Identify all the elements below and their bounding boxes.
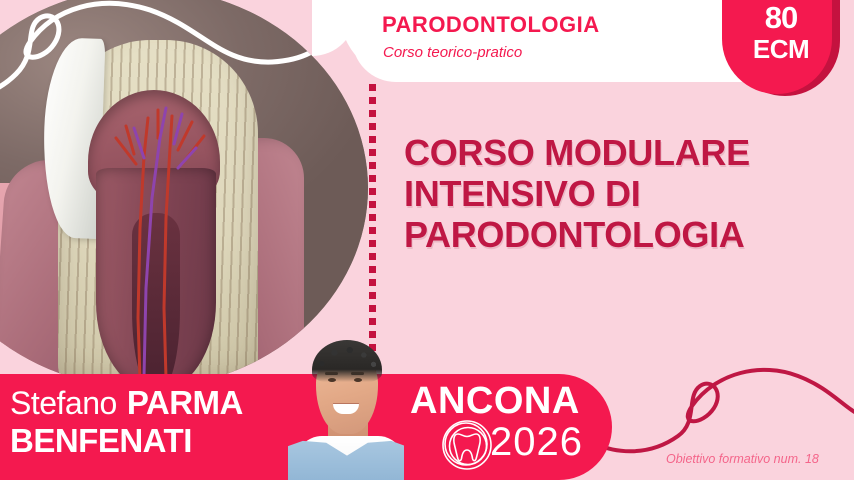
main-headline: CORSO MODULARE INTENSIVO DI PARODONTOLOG…: [404, 132, 844, 255]
portrait-eyebrow-right: [351, 372, 364, 375]
tooth-cross-section-photo: [0, 0, 368, 388]
portrait-eye-left: [328, 378, 336, 382]
speaker-portrait: [288, 332, 404, 480]
portrait-eye-right: [354, 378, 362, 382]
speaker-name-line-1: StefanoPARMA: [10, 386, 243, 419]
speaker-name-band: StefanoPARMA BENFENATI: [0, 374, 320, 480]
speaker-surname-part-2: BENFENATI: [10, 424, 192, 457]
headline-line-3: PARODONTOLOGIA: [404, 214, 844, 255]
header-pill: PARODONTOLOGIA Corso teorico-pratico: [352, 0, 772, 82]
course-subject-title: PARODONTOLOGIA: [382, 12, 600, 38]
portrait-eyebrow-left: [325, 372, 338, 375]
tooth-emblem-icon: [438, 418, 496, 472]
headline-line-1: CORSO MODULARE: [404, 132, 844, 173]
headline-line-2: INTENSIVO DI: [404, 173, 844, 214]
ecm-label: ECM: [722, 36, 840, 62]
event-year: 2026: [490, 422, 583, 462]
speaker-surname-part-1: PARMA: [127, 384, 243, 421]
course-type-subtitle: Corso teorico-pratico: [383, 44, 522, 61]
ecm-credit-number: 80: [722, 2, 840, 33]
speaker-first-name: Stefano: [10, 385, 117, 421]
ecm-credits-badge: 80 ECM: [722, 0, 840, 96]
course-poster: PARODONTOLOGIA Corso teorico-pratico 80 …: [0, 0, 854, 480]
nerve-vessels-icon: [0, 0, 368, 388]
portrait-hair: [312, 340, 382, 382]
training-objective-footnote: Obiettivo formativo num. 18: [666, 452, 819, 466]
event-city: ANCONA: [410, 382, 580, 420]
